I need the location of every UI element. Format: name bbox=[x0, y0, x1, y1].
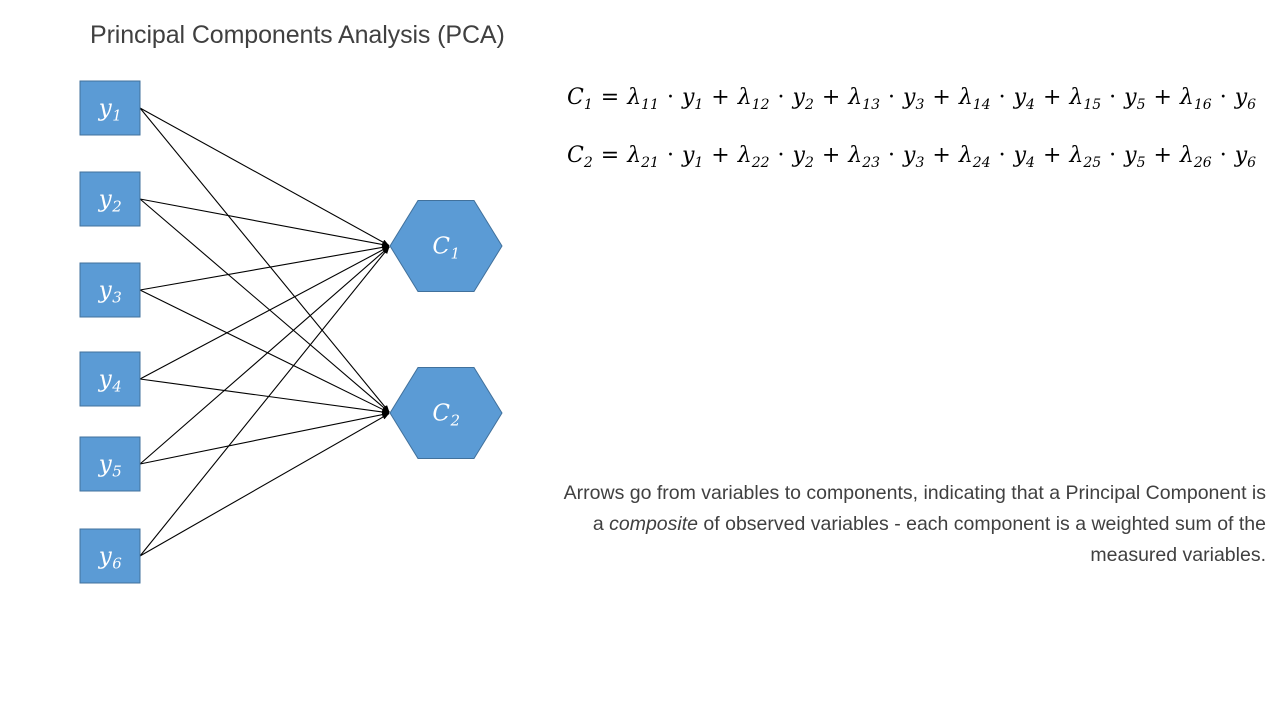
variable-node-y6[interactable] bbox=[80, 529, 140, 583]
component-node-C2[interactable] bbox=[390, 368, 502, 459]
eq-plus-sign: + bbox=[1146, 85, 1180, 110]
eq-multiply-dot: · bbox=[991, 143, 1014, 168]
eq-variable-symbol: y bbox=[682, 143, 694, 168]
eq-variable-symbol: y bbox=[1235, 85, 1247, 110]
eq-plus-sign: + bbox=[703, 85, 737, 110]
eq-variable-symbol: y bbox=[1235, 143, 1247, 168]
eq-coefficient-symbol: λ bbox=[848, 85, 862, 110]
eq-coefficient-subscript: 24 bbox=[973, 155, 991, 171]
eq-coefficient-subscript: 25 bbox=[1083, 155, 1101, 171]
eq-coefficient-subscript: 23 bbox=[862, 155, 880, 171]
eq-plus-sign: + bbox=[1035, 143, 1069, 168]
eq-coefficient-subscript: 12 bbox=[752, 97, 770, 113]
eq-coefficient-symbol: λ bbox=[627, 85, 641, 110]
eq-multiply-dot: · bbox=[1101, 85, 1124, 110]
eq-coefficient-subscript: 21 bbox=[641, 155, 659, 171]
eq-multiply-dot: · bbox=[659, 85, 682, 110]
eq-variable-symbol: y bbox=[793, 85, 805, 110]
component-node-C1[interactable] bbox=[390, 201, 502, 292]
variable-node-y1[interactable] bbox=[80, 81, 140, 135]
equation-component-1: C1 = λ11 · y1 + λ12 · y2 + λ13 · y3 + λ1… bbox=[567, 84, 1256, 114]
eq-plus-sign: + bbox=[703, 143, 737, 168]
eq-plus-sign: + bbox=[1146, 143, 1180, 168]
eq-lhs-symbol: C bbox=[567, 85, 584, 110]
eq-multiply-dot: · bbox=[880, 143, 903, 168]
eq-variable-symbol: y bbox=[1124, 143, 1136, 168]
eq-plus-sign: + bbox=[814, 85, 848, 110]
arrow-y1-to-C2 bbox=[140, 108, 389, 412]
eq-lhs-subscript: 2 bbox=[584, 155, 593, 171]
eq-variable-subscript: 1 bbox=[694, 155, 703, 171]
eq-variable-symbol: y bbox=[1014, 85, 1026, 110]
arrow-y3-to-C1 bbox=[140, 246, 389, 290]
variable-node-y2[interactable] bbox=[80, 172, 140, 226]
eq-variable-subscript: 4 bbox=[1026, 155, 1035, 171]
eq-plus-sign: + bbox=[924, 85, 958, 110]
eq-equals-sign: = bbox=[593, 143, 627, 168]
arrow-y6-to-C2 bbox=[140, 413, 389, 556]
eq-variable-symbol: y bbox=[682, 85, 694, 110]
eq-variable-subscript: 6 bbox=[1247, 155, 1256, 171]
eq-coefficient-symbol: λ bbox=[848, 143, 862, 168]
eq-multiply-dot: · bbox=[1212, 85, 1235, 110]
diagram-caption: Arrows go from variables to components, … bbox=[560, 478, 1266, 571]
eq-equals-sign: = bbox=[593, 85, 627, 110]
eq-coefficient-subscript: 16 bbox=[1194, 97, 1212, 113]
eq-variable-subscript: 6 bbox=[1247, 97, 1256, 113]
eq-coefficient-symbol: λ bbox=[738, 143, 752, 168]
eq-plus-sign: + bbox=[924, 143, 958, 168]
variable-node-y4[interactable] bbox=[80, 352, 140, 406]
eq-coefficient-symbol: λ bbox=[738, 85, 752, 110]
caption-part-2: of observed variables - each component i… bbox=[698, 513, 1266, 566]
eq-plus-sign: + bbox=[814, 143, 848, 168]
arrow-y5-to-C2 bbox=[140, 413, 389, 464]
eq-lhs-subscript: 1 bbox=[584, 97, 593, 113]
variable-node-y3[interactable] bbox=[80, 263, 140, 317]
eq-coefficient-symbol: λ bbox=[1180, 85, 1194, 110]
arrow-y1-to-C1 bbox=[140, 108, 389, 246]
eq-coefficient-subscript: 13 bbox=[862, 97, 880, 113]
eq-variable-symbol: y bbox=[793, 143, 805, 168]
eq-plus-sign: + bbox=[1035, 85, 1069, 110]
eq-multiply-dot: · bbox=[880, 85, 903, 110]
slide-canvas: Principal Components Analysis (PCA) y1y2… bbox=[0, 0, 1280, 720]
arrow-edges bbox=[140, 108, 389, 556]
eq-variable-subscript: 3 bbox=[915, 97, 924, 113]
eq-coefficient-symbol: λ bbox=[959, 143, 973, 168]
eq-variable-subscript: 4 bbox=[1026, 97, 1035, 113]
arrow-y4-to-C1 bbox=[140, 246, 389, 379]
eq-coefficient-subscript: 15 bbox=[1083, 97, 1101, 113]
arrow-y3-to-C2 bbox=[140, 290, 389, 413]
eq-coefficient-subscript: 11 bbox=[641, 97, 659, 113]
eq-variable-symbol: y bbox=[1014, 143, 1026, 168]
variable-node-y5[interactable] bbox=[80, 437, 140, 491]
eq-coefficient-subscript: 26 bbox=[1194, 155, 1212, 171]
eq-variable-subscript: 1 bbox=[694, 97, 703, 113]
arrow-y2-to-C1 bbox=[140, 199, 389, 246]
eq-lhs-symbol: C bbox=[567, 143, 584, 168]
eq-multiply-dot: · bbox=[659, 143, 682, 168]
eq-coefficient-symbol: λ bbox=[1180, 143, 1194, 168]
eq-coefficient-subscript: 14 bbox=[973, 97, 991, 113]
eq-variable-subscript: 2 bbox=[805, 155, 814, 171]
eq-variable-subscript: 2 bbox=[805, 97, 814, 113]
eq-variable-subscript: 5 bbox=[1137, 155, 1146, 171]
arrow-y2-to-C2 bbox=[140, 199, 389, 412]
eq-coefficient-subscript: 22 bbox=[752, 155, 770, 171]
eq-variable-symbol: y bbox=[903, 143, 915, 168]
eq-coefficient-symbol: λ bbox=[1069, 143, 1083, 168]
eq-multiply-dot: · bbox=[991, 85, 1014, 110]
eq-coefficient-symbol: λ bbox=[1069, 85, 1083, 110]
arrow-y6-to-C1 bbox=[140, 247, 389, 556]
eq-coefficient-symbol: λ bbox=[627, 143, 641, 168]
eq-multiply-dot: · bbox=[1212, 143, 1235, 168]
eq-variable-symbol: y bbox=[903, 85, 915, 110]
equation-component-2: C2 = λ21 · y1 + λ22 · y2 + λ23 · y3 + λ2… bbox=[567, 142, 1256, 172]
eq-multiply-dot: · bbox=[770, 143, 793, 168]
eq-coefficient-symbol: λ bbox=[959, 85, 973, 110]
arrow-y4-to-C2 bbox=[140, 379, 389, 413]
arrow-y5-to-C1 bbox=[140, 247, 389, 464]
caption-emphasis: composite bbox=[609, 513, 698, 535]
eq-multiply-dot: · bbox=[770, 85, 793, 110]
eq-variable-subscript: 5 bbox=[1137, 97, 1146, 113]
eq-variable-symbol: y bbox=[1124, 85, 1136, 110]
eq-multiply-dot: · bbox=[1101, 143, 1124, 168]
eq-variable-subscript: 3 bbox=[915, 155, 924, 171]
